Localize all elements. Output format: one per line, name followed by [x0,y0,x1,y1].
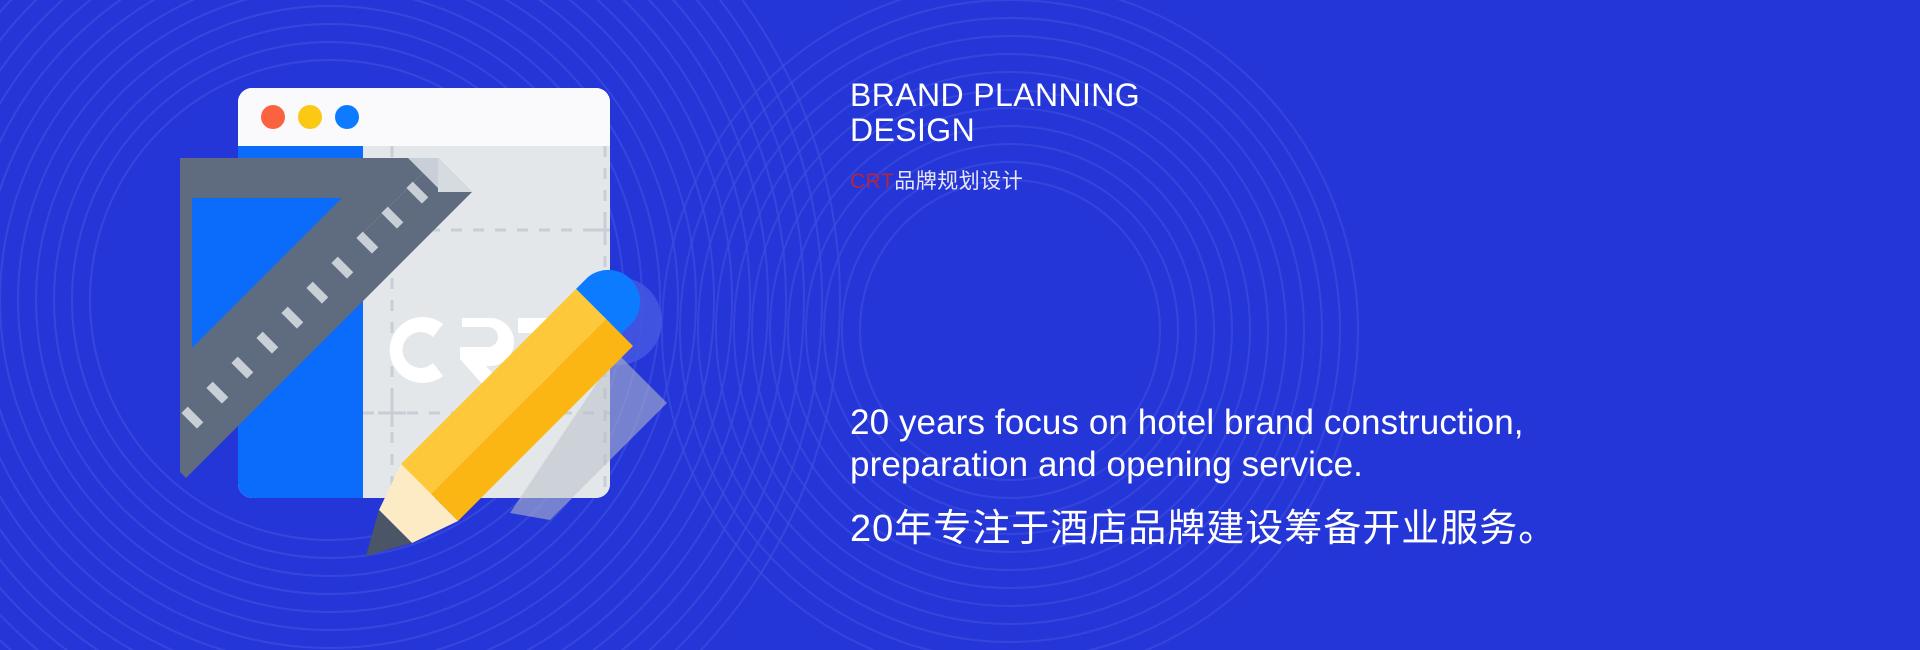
lead-paragraph-cn: 20年专注于酒店品牌建设筹备开业服务。 [850,505,1557,553]
close-dot [261,105,285,129]
brand-banner: BRAND PLANNING DESIGN CRT品牌规划设计 20 years… [0,0,1920,650]
lead-paragraph-en: 20 years focus on hotel brand constructi… [850,402,1550,486]
brand-design-illustration [180,58,720,598]
minimize-dot [298,105,322,129]
brand-name-crt: CRT [850,170,894,193]
banner-copy: BRAND PLANNING DESIGN CRT品牌规划设计 20 years… [850,0,1850,650]
subheadline-cn: 品牌规划设计 [894,170,1023,193]
maximize-dot [335,105,359,129]
subheadline: CRT品牌规划设计 [850,170,1023,194]
headline: BRAND PLANNING DESIGN [850,78,1470,148]
browser-dots [261,105,359,129]
browser-titlebar [238,88,610,146]
